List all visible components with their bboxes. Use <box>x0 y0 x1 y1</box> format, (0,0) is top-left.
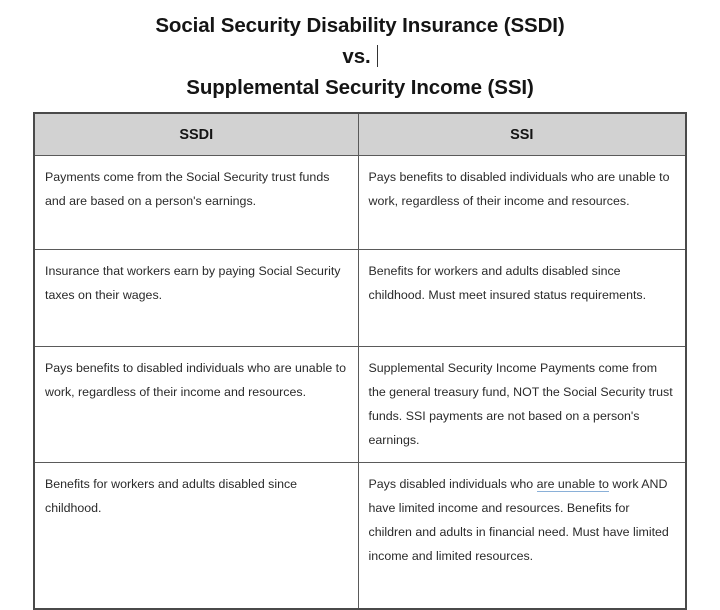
cell-ssi-4[interactable]: Pays disabled individuals who are unable… <box>358 463 686 610</box>
title-line-2-text: vs. <box>342 45 370 68</box>
comparison-table: SSDI SSI Payments come from the Social S… <box>33 112 687 610</box>
title-line-3: Supplemental Security Income (SSI) <box>0 72 720 103</box>
cell-ssi-2-text: Benefits for workers and adults disabled… <box>369 259 676 307</box>
table-row: Pays benefits to disabled individuals wh… <box>34 347 686 463</box>
column-header-ssdi: SSDI <box>34 113 358 156</box>
table-header: SSDI SSI <box>34 113 686 156</box>
cell-ssdi-3[interactable]: Pays benefits to disabled individuals wh… <box>34 347 358 463</box>
cell-ssdi-2[interactable]: Insurance that workers earn by paying So… <box>34 250 358 347</box>
cell-ssi-1-text: Pays benefits to disabled individuals wh… <box>369 165 676 213</box>
cell-ssi-3[interactable]: Supplemental Security Income Payments co… <box>358 347 686 463</box>
cell-ssi-4-text-before: Pays disabled individuals who <box>369 477 537 491</box>
cell-ssdi-2-text: Insurance that workers earn by paying So… <box>45 259 348 307</box>
cell-ssdi-3-text: Pays benefits to disabled individuals wh… <box>45 356 348 404</box>
document-page: Social Security Disability Insurance (SS… <box>0 0 720 557</box>
cell-ssdi-1[interactable]: Payments come from the Social Security t… <box>34 156 358 250</box>
text-cursor-caret <box>377 45 378 67</box>
cell-ssdi-4-text: Benefits for workers and adults disabled… <box>45 472 348 520</box>
title-line-1: Social Security Disability Insurance (SS… <box>0 10 720 41</box>
table-row: Insurance that workers earn by paying So… <box>34 250 686 347</box>
table-row: Benefits for workers and adults disabled… <box>34 463 686 610</box>
cell-ssi-3-text: Supplemental Security Income Payments co… <box>369 356 676 452</box>
table-header-row: SSDI SSI <box>34 113 686 156</box>
cell-ssi-4-text: Pays disabled individuals who are unable… <box>369 472 676 568</box>
cell-ssdi-1-text: Payments come from the Social Security t… <box>45 165 348 213</box>
cell-ssi-2[interactable]: Benefits for workers and adults disabled… <box>358 250 686 347</box>
title-line-2: vs. <box>0 41 720 72</box>
cell-ssi-1[interactable]: Pays benefits to disabled individuals wh… <box>358 156 686 250</box>
column-header-ssi: SSI <box>358 113 686 156</box>
grammar-suggestion-underline[interactable]: are unable to <box>537 477 609 492</box>
table-body: Payments come from the Social Security t… <box>34 156 686 610</box>
document-title: Social Security Disability Insurance (SS… <box>0 10 720 103</box>
table-row: Payments come from the Social Security t… <box>34 156 686 250</box>
cell-ssdi-4[interactable]: Benefits for workers and adults disabled… <box>34 463 358 610</box>
